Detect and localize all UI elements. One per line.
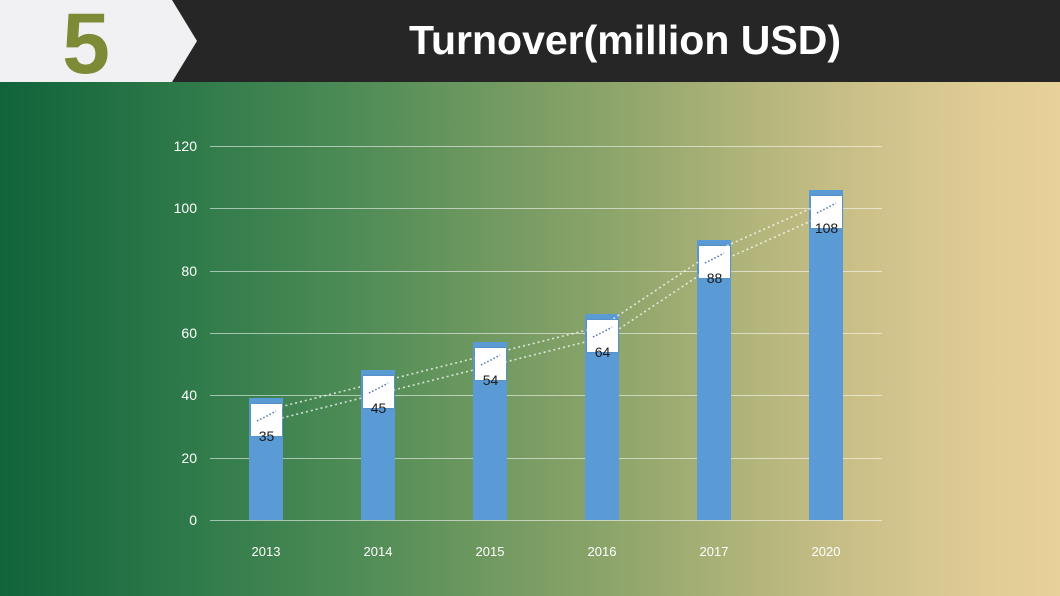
gridline: 120 (210, 146, 882, 147)
gridline: 20 (210, 458, 882, 459)
data-label-value: 35 (259, 428, 275, 444)
data-label-2013: 35 (251, 404, 282, 436)
data-label-2014: 45 (363, 376, 394, 408)
chart-plot-area: 020406080100120 3545546488108 2013201420… (210, 146, 882, 520)
section-number-badge (0, 0, 197, 82)
gridline: 40 (210, 395, 882, 396)
data-label-2020: 108 (811, 196, 842, 228)
gridline: 80 (210, 271, 882, 272)
data-label-value: 64 (595, 344, 611, 360)
data-label-value: 54 (483, 372, 499, 388)
x-axis-label-2017: 2017 (700, 544, 729, 559)
y-axis-tick-label: 60 (181, 325, 197, 341)
gridline: 0 (210, 520, 882, 521)
y-axis-tick-label: 80 (181, 263, 197, 279)
trend-line (272, 212, 832, 421)
x-axis-label-2015: 2015 (476, 544, 505, 559)
gridline: 60 (210, 333, 882, 334)
page-title: Turnover(million USD) (190, 0, 1060, 82)
y-axis-tick-label: 100 (174, 200, 197, 216)
y-axis-tick-label: 20 (181, 450, 197, 466)
data-label-value: 45 (371, 400, 387, 416)
x-axis-label-2016: 2016 (588, 544, 617, 559)
slide-header: Turnover(million USD) 5 (0, 0, 1060, 82)
slide-canvas: Turnover(million USD) 5 020406080100120 … (0, 0, 1060, 596)
x-axis-label-2014: 2014 (364, 544, 393, 559)
y-axis-tick-label: 0 (189, 512, 197, 528)
data-label-2015: 54 (475, 348, 506, 380)
turnover-bar-chart: 020406080100120 3545546488108 2013201420… (0, 82, 1060, 596)
data-label-2017: 88 (699, 246, 730, 278)
x-axis-label-2013: 2013 (252, 544, 281, 559)
trend-line (266, 202, 826, 411)
y-axis-tick-label: 120 (174, 138, 197, 154)
data-label-2016: 64 (587, 320, 618, 352)
x-axis-label-2020: 2020 (812, 544, 841, 559)
bar-2020[interactable] (809, 190, 843, 520)
data-label-value: 108 (815, 220, 838, 236)
y-axis-tick-label: 40 (181, 387, 197, 403)
gridline: 100 (210, 208, 882, 209)
data-label-value: 88 (707, 270, 723, 286)
